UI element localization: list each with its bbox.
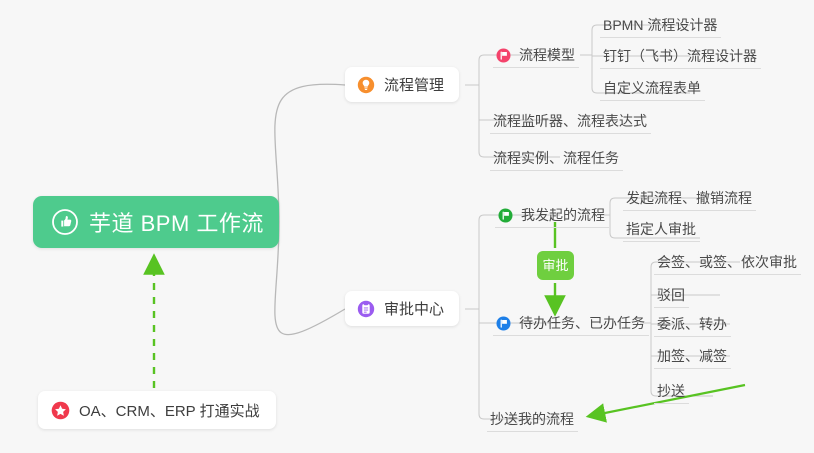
topic-label-bpmn-designer: BPMN 流程设计器 <box>603 15 717 35</box>
topic-underline <box>623 241 700 242</box>
topic-add-remove-sign[interactable]: 加签、减签 <box>654 343 731 369</box>
callout-label-integration: OA、CRM、ERP 打通实战 <box>79 400 260 421</box>
topic-label-add-remove-sign: 加签、减签 <box>657 346 727 366</box>
flag-blue-icon <box>496 316 511 331</box>
topic-underline <box>495 227 609 228</box>
flag-red-icon <box>496 48 511 63</box>
topic-todo-done-tasks[interactable]: 待办任务、已办任务 <box>493 310 649 336</box>
topic-process-model[interactable]: 流程模型 <box>493 42 579 68</box>
topic-label-cc-to-me-processes: 抄送我的流程 <box>490 409 574 429</box>
topic-label-dingtalk-feishu-designer: 钉钉（飞书）流程设计器 <box>603 46 757 66</box>
topic-underline <box>623 210 756 211</box>
topic-dingtalk-feishu-designer[interactable]: 钉钉（飞书）流程设计器 <box>600 43 761 69</box>
topic-underline <box>654 368 731 369</box>
topic-label-carbon-copy: 抄送 <box>657 381 685 401</box>
approve-badge-label: 审批 <box>542 259 568 272</box>
topic-listener-expression[interactable]: 流程监听器、流程表达式 <box>490 108 651 134</box>
callout-node-integration[interactable]: OA、CRM、ERP 打通实战 <box>38 391 276 429</box>
topic-underline <box>654 403 689 404</box>
topic-my-started-processes[interactable]: 我发起的流程 <box>495 202 609 228</box>
topic-countersign[interactable]: 会签、或签、依次审批 <box>654 249 801 275</box>
topic-underline <box>600 100 705 101</box>
topic-label-custom-form: 自定义流程表单 <box>603 78 701 98</box>
topic-delegate-transfer[interactable]: 委派、转办 <box>654 311 731 337</box>
branch-node-process-management[interactable]: 流程管理 <box>345 67 459 102</box>
branch-node-approval-center[interactable]: 审批中心 <box>345 291 459 326</box>
branch-label-process-management: 流程管理 <box>384 74 444 95</box>
topic-label-reject: 驳回 <box>657 285 685 305</box>
root-label: 芋道 BPM 工作流 <box>89 206 264 238</box>
topic-custom-form[interactable]: 自定义流程表单 <box>600 75 705 101</box>
topic-underline <box>490 170 623 171</box>
topic-underline <box>490 133 651 134</box>
topic-carbon-copy[interactable]: 抄送 <box>654 378 689 404</box>
topic-label-assignee-approval: 指定人审批 <box>626 219 696 239</box>
root-node[interactable]: 芋道 BPM 工作流 <box>33 196 279 248</box>
branch-label-approval-center: 审批中心 <box>384 298 444 319</box>
approve-badge[interactable]: 审批 <box>537 251 574 280</box>
topic-start-cancel-process[interactable]: 发起流程、撤销流程 <box>623 185 756 211</box>
topic-underline <box>600 37 721 38</box>
topic-underline <box>600 68 761 69</box>
lightbulb-icon <box>357 76 375 94</box>
topic-label-todo-done-tasks: 待办任务、已办任务 <box>519 313 645 333</box>
flag-green-icon <box>498 208 513 223</box>
topic-underline <box>493 335 649 336</box>
topic-label-countersign: 会签、或签、依次审批 <box>657 252 797 272</box>
clipboard-icon <box>357 300 375 318</box>
topic-underline <box>654 336 731 337</box>
topic-label-instance-task: 流程实例、流程任务 <box>493 148 619 168</box>
topic-label-process-model: 流程模型 <box>519 45 575 65</box>
topic-label-start-cancel-process: 发起流程、撤销流程 <box>626 188 752 208</box>
topic-cc-to-me-processes[interactable]: 抄送我的流程 <box>487 406 578 432</box>
topic-instance-task[interactable]: 流程实例、流程任务 <box>490 145 623 171</box>
topic-underline <box>654 274 801 275</box>
topic-reject[interactable]: 驳回 <box>654 282 689 308</box>
topic-underline <box>487 431 578 432</box>
topic-bpmn-designer[interactable]: BPMN 流程设计器 <box>600 12 721 38</box>
connector-root-to-approval-center <box>275 222 345 335</box>
star-icon <box>51 401 70 420</box>
connector-root-to-process-management <box>275 84 345 222</box>
topic-underline <box>493 67 579 68</box>
topic-label-listener-expression: 流程监听器、流程表达式 <box>493 111 647 131</box>
thumbs-up-icon <box>52 209 78 235</box>
topic-label-my-started-processes: 我发起的流程 <box>521 205 605 225</box>
topic-label-delegate-transfer: 委派、转办 <box>657 314 727 334</box>
topic-assignee-approval[interactable]: 指定人审批 <box>623 216 700 242</box>
mindmap-canvas: 芋道 BPM 工作流 流程管理 审批中心 <box>0 0 814 453</box>
topic-underline <box>654 307 689 308</box>
